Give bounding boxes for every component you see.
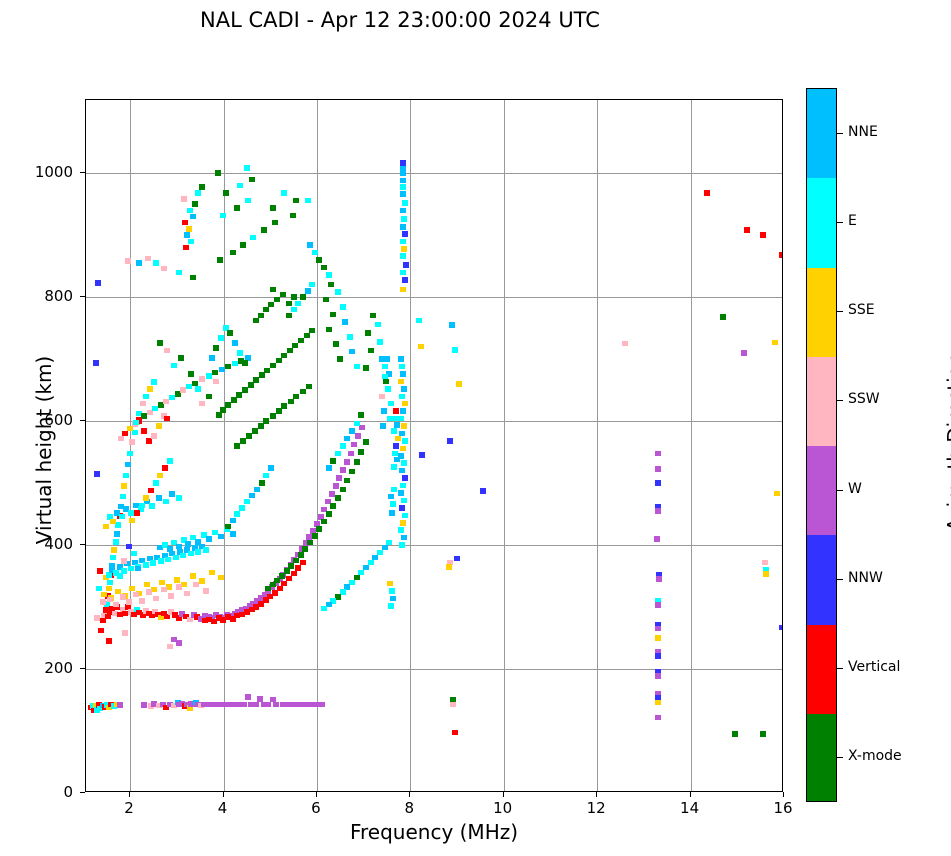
data-point (402, 401, 408, 407)
data-point (741, 350, 747, 356)
data-point (354, 459, 360, 465)
data-point (125, 462, 131, 468)
x-tick-mark (690, 792, 691, 797)
colorbar-segment-nne[interactable] (807, 89, 836, 178)
y-tick-mark (80, 544, 85, 545)
colorbar-segment-sse[interactable] (807, 268, 836, 357)
x-tick-label: 4 (203, 799, 243, 817)
y-tick-mark (80, 668, 85, 669)
data-point (377, 339, 383, 345)
data-point (395, 436, 401, 442)
data-point (236, 392, 242, 398)
data-point (220, 213, 226, 219)
data-point (418, 344, 424, 350)
data-point (363, 439, 369, 445)
data-point (188, 239, 194, 245)
data-point (402, 475, 408, 481)
data-point (245, 198, 251, 204)
colorbar-tick-mark (837, 311, 843, 312)
data-point (261, 227, 267, 233)
data-point (248, 382, 254, 388)
data-point (100, 599, 106, 605)
data-point (153, 596, 159, 602)
data-point (349, 349, 355, 355)
data-point (340, 304, 346, 310)
data-point (270, 205, 276, 211)
data-point (288, 563, 294, 569)
data-point (355, 433, 361, 439)
data-point (391, 464, 397, 470)
data-point (309, 328, 315, 334)
data-point (382, 364, 388, 370)
data-point (449, 322, 455, 328)
data-point (401, 216, 407, 222)
data-point (241, 702, 247, 708)
data-point (188, 371, 194, 377)
y-tick-label: 200 (18, 659, 73, 677)
data-point (388, 603, 394, 609)
colorbar-label-nnw: NNW (848, 570, 883, 586)
data-point (110, 519, 116, 525)
data-point (400, 165, 406, 171)
data-point (305, 198, 311, 204)
data-point (252, 428, 258, 434)
data-point (402, 513, 408, 519)
x-tick-mark (596, 792, 597, 797)
data-point (400, 208, 406, 214)
data-point (286, 313, 292, 319)
x-tick-mark (783, 792, 784, 797)
data-point (184, 232, 190, 238)
data-point (286, 576, 292, 582)
data-point (168, 593, 174, 599)
data-point (398, 379, 404, 385)
data-point (148, 488, 154, 494)
data-point (291, 571, 297, 577)
data-point (281, 403, 287, 409)
colorbar-segment-w[interactable] (807, 446, 836, 535)
data-point (779, 625, 783, 631)
data-point (239, 505, 245, 511)
data-point (655, 480, 661, 486)
data-point (185, 541, 191, 547)
data-point (106, 572, 112, 578)
data-point (249, 177, 255, 183)
data-point (400, 287, 406, 293)
data-point (225, 402, 231, 408)
data-point (392, 416, 398, 422)
data-point (480, 488, 486, 494)
data-point (762, 560, 768, 566)
data-point (298, 552, 304, 558)
data-point (219, 367, 225, 373)
colorbar-label-nne: NNE (848, 124, 878, 140)
data-point (446, 564, 452, 570)
x-tick-label: 16 (763, 799, 803, 817)
data-point (213, 379, 219, 385)
colorbar-tick-mark (837, 579, 843, 580)
data-point (401, 386, 407, 392)
colorbar[interactable] (806, 88, 837, 802)
data-point (300, 389, 306, 395)
data-point (167, 458, 173, 464)
data-point (330, 503, 336, 509)
data-point (220, 407, 226, 413)
data-point (335, 495, 341, 501)
data-point (760, 232, 766, 238)
data-point (391, 487, 397, 493)
data-point (306, 384, 312, 390)
data-point (381, 408, 387, 414)
data-point (232, 340, 238, 346)
data-point (399, 542, 405, 548)
data-point (387, 416, 393, 422)
data-point (402, 200, 408, 206)
data-point (307, 540, 313, 546)
data-point (141, 428, 147, 434)
data-point (368, 348, 374, 354)
colorbar-segment-nnw[interactable] (807, 535, 836, 624)
data-point (199, 578, 205, 584)
data-point (400, 224, 406, 230)
data-point (400, 483, 406, 489)
colorbar-segment-vertical[interactable] (807, 625, 836, 714)
colorbar-label-e: E (848, 213, 857, 229)
x-tick-mark (316, 792, 317, 797)
data-point (279, 573, 285, 579)
data-point (416, 318, 422, 324)
colorbar-tick-mark (837, 133, 843, 134)
data-point (398, 356, 404, 362)
data-point (385, 386, 391, 392)
data-point (348, 451, 354, 457)
x-tick-label: 12 (576, 799, 616, 817)
data-point (141, 702, 147, 708)
data-point (164, 348, 170, 354)
data-point (136, 260, 142, 266)
data-point (111, 547, 117, 553)
data-point (190, 573, 196, 579)
data-point (363, 365, 369, 371)
data-point (401, 246, 407, 252)
data-point (400, 178, 406, 184)
colorbar-segment-e[interactable] (807, 178, 836, 267)
data-point (217, 257, 223, 263)
data-point (192, 201, 198, 207)
x-tick-mark (409, 792, 410, 797)
data-point (195, 539, 201, 545)
data-point (270, 363, 276, 369)
colorbar-label-sse: SSE (848, 302, 875, 318)
data-point (199, 184, 205, 190)
data-point (146, 438, 152, 444)
data-point (379, 356, 385, 362)
data-point (216, 412, 222, 418)
data-point (342, 319, 348, 325)
data-point (180, 553, 186, 559)
data-point (145, 256, 151, 262)
data-point (190, 275, 196, 281)
data-point (253, 377, 259, 383)
data-point (293, 198, 299, 204)
data-point (231, 397, 237, 403)
data-point (199, 401, 205, 407)
data-point (140, 401, 146, 407)
data-point (218, 575, 224, 581)
data-point (186, 384, 192, 390)
data-point (391, 428, 397, 434)
data-point (344, 459, 350, 465)
y-tick-mark (80, 420, 85, 421)
data-point (291, 294, 297, 300)
data-point (234, 443, 240, 449)
data-point (225, 524, 231, 530)
data-point (295, 565, 301, 571)
data-point (161, 266, 167, 272)
x-tick-label: 14 (670, 799, 710, 817)
data-point (273, 702, 279, 708)
data-point (400, 520, 406, 526)
data-point (242, 387, 248, 393)
data-point (622, 341, 628, 347)
data-point (326, 327, 332, 333)
data-point (97, 568, 103, 574)
data-point (270, 287, 276, 293)
data-point (230, 531, 236, 537)
x-tick-label: 6 (296, 799, 336, 817)
data-point (263, 473, 269, 479)
data-point (321, 265, 327, 271)
data-point (150, 560, 156, 566)
data-point (772, 340, 778, 346)
data-point (305, 288, 311, 294)
data-point (272, 220, 278, 226)
y-axis-title: Virtual height (km) (32, 310, 56, 590)
data-point (203, 547, 209, 553)
data-point (176, 584, 182, 590)
data-point (398, 416, 404, 422)
data-point (126, 544, 132, 550)
data-point (655, 626, 661, 632)
data-point (96, 586, 102, 592)
data-point (199, 376, 205, 382)
data-point (209, 570, 215, 576)
data-point (126, 599, 132, 605)
y-tick-mark (80, 172, 85, 173)
data-point (129, 586, 135, 592)
data-point (117, 702, 123, 708)
data-point (760, 731, 766, 737)
data-point (383, 379, 389, 385)
data-point (157, 473, 163, 479)
data-point (143, 495, 149, 501)
data-point (94, 471, 100, 477)
colorbar-segment-x-mode[interactable] (807, 714, 836, 802)
data-point (720, 314, 726, 320)
data-point (277, 586, 283, 592)
plot-area (85, 99, 783, 792)
data-point (326, 511, 332, 517)
data-point (656, 576, 662, 582)
y-tick-mark (80, 792, 85, 793)
data-point (398, 490, 404, 496)
data-point (149, 503, 155, 509)
data-point (250, 235, 256, 241)
data-point (230, 250, 236, 256)
data-point (347, 334, 353, 340)
data-point (281, 581, 287, 587)
data-point (176, 640, 182, 646)
data-point (450, 702, 456, 708)
data-point (176, 544, 182, 550)
y-tick-label: 0 (18, 783, 73, 801)
data-point (264, 368, 270, 374)
data-point (333, 341, 339, 347)
data-point (399, 394, 405, 400)
colorbar-tick-mark (837, 222, 843, 223)
data-point (244, 165, 250, 171)
data-point (265, 702, 271, 708)
data-point (122, 431, 128, 437)
data-point (129, 518, 135, 524)
data-point (188, 551, 194, 557)
data-point (655, 700, 661, 706)
data-point (655, 715, 661, 721)
data-point (280, 292, 286, 298)
colorbar-segment-ssw[interactable] (807, 357, 836, 446)
data-point (291, 307, 297, 313)
data-point (287, 348, 293, 354)
data-point (452, 730, 458, 736)
data-point (167, 644, 173, 650)
colorbar-label-w: W (848, 481, 862, 497)
data-point (178, 355, 184, 361)
data-point (380, 423, 386, 429)
data-point (106, 638, 112, 644)
data-point (328, 282, 334, 288)
data-point (165, 557, 171, 563)
data-point (169, 491, 175, 497)
data-point (399, 505, 405, 511)
data-point (304, 333, 310, 339)
ionogram-figure: NAL CADI - Apr 12 23:00:00 2024 UTC 2468… (0, 0, 951, 856)
y-tick-label: 1000 (18, 163, 73, 181)
x-tick-mark (129, 792, 130, 797)
data-point (309, 282, 315, 288)
data-point (166, 584, 172, 590)
data-point (176, 495, 182, 501)
data-point (119, 514, 125, 520)
data-point (244, 499, 250, 505)
data-point (95, 280, 101, 286)
data-point (307, 242, 313, 248)
data-point (400, 371, 406, 377)
data-point (171, 363, 177, 369)
colorbar-tick-mark (837, 668, 843, 669)
data-point (336, 475, 342, 481)
data-point (147, 386, 153, 392)
colorbar-label-vertical: Vertical (848, 659, 900, 675)
data-point (393, 408, 399, 414)
data-point (118, 436, 124, 442)
data-point (190, 214, 196, 220)
data-point (245, 694, 251, 700)
data-point (125, 258, 131, 264)
data-point (163, 499, 169, 505)
data-point (114, 531, 120, 537)
y-tick-label: 800 (18, 287, 73, 305)
colorbar-title: Azimuth Direction (943, 277, 951, 607)
data-point (402, 438, 408, 444)
data-point (655, 635, 661, 641)
data-point (183, 245, 189, 251)
data-point (123, 473, 129, 479)
data-point (399, 364, 405, 370)
data-point (349, 469, 355, 475)
data-point (258, 423, 264, 429)
data-point (127, 451, 133, 457)
data-point (274, 297, 280, 303)
data-point (268, 302, 274, 308)
data-point (326, 272, 332, 278)
data-point (158, 558, 164, 564)
data-point (335, 451, 341, 457)
data-point (162, 465, 168, 471)
data-point (401, 423, 407, 429)
data-point (655, 602, 661, 608)
data-point (654, 536, 660, 542)
data-point (400, 170, 406, 176)
data-point (400, 239, 406, 245)
data-point (744, 227, 750, 233)
data-point (400, 253, 406, 259)
data-point (419, 452, 425, 458)
data-point (358, 412, 364, 418)
data-point (337, 356, 343, 362)
data-point (253, 318, 259, 324)
data-point (259, 480, 265, 486)
data-point (312, 533, 318, 539)
data-point (293, 394, 299, 400)
data-point (704, 190, 710, 196)
data-point (454, 556, 460, 562)
data-point (323, 297, 329, 303)
data-point (139, 503, 145, 509)
data-point (151, 433, 157, 439)
data-point (134, 510, 140, 516)
data-point (330, 458, 336, 464)
data-point (268, 465, 274, 471)
data-point (195, 386, 201, 392)
data-point (259, 372, 265, 378)
data-point (375, 322, 381, 328)
data-point (156, 423, 162, 429)
colorbar-label-x-mode: X-mode (848, 748, 902, 764)
data-point (230, 518, 236, 524)
data-point (295, 301, 301, 307)
data-point (349, 428, 355, 434)
data-point (187, 208, 193, 214)
colorbar-tick-mark (837, 490, 843, 491)
data-point (186, 226, 192, 232)
data-point (246, 433, 252, 439)
data-point (344, 478, 350, 484)
data-point (110, 555, 116, 561)
x-tick-label: 10 (483, 799, 523, 817)
data-point (379, 394, 385, 400)
data-point (212, 370, 218, 376)
data-point (392, 451, 398, 457)
